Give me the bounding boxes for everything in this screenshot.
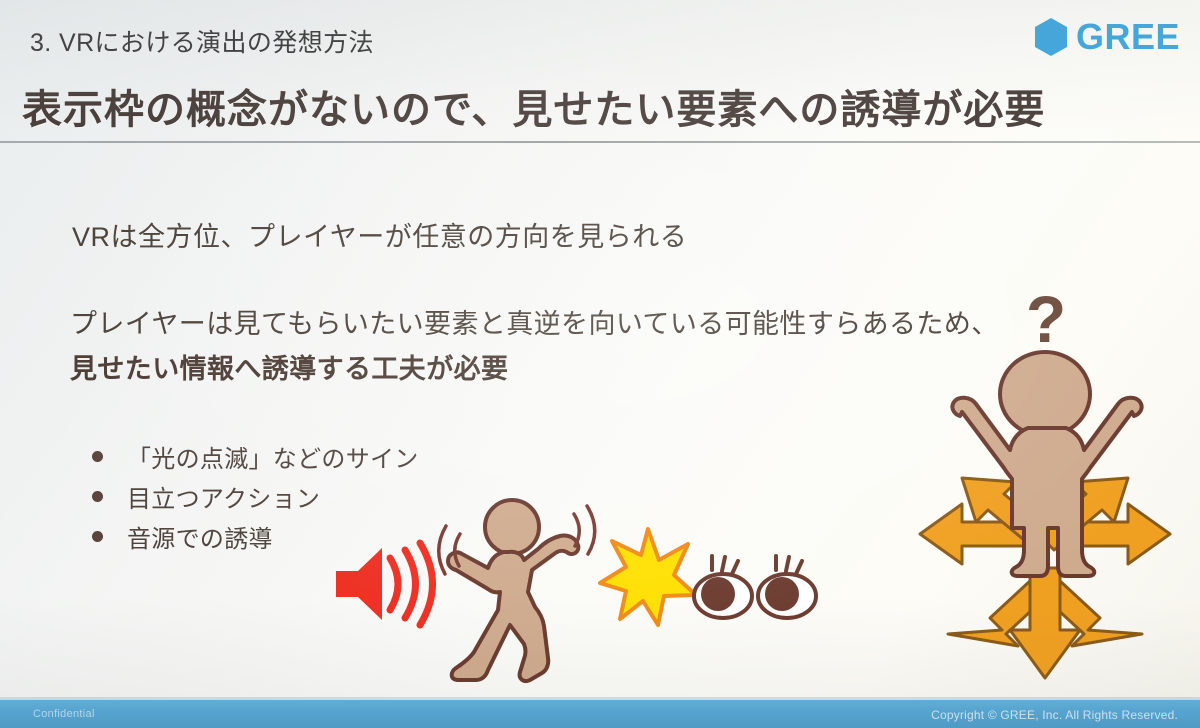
slide-kicker: 3. VRにおける演出の発想方法 [30, 23, 374, 59]
confidential-label: Confidential [33, 708, 95, 720]
list-item-label: 目立つアクション [127, 479, 320, 514]
star-burst-icon [598, 527, 698, 627]
eyes-icon [692, 552, 824, 624]
slide-footer: Confidential Copyright © GREE, Inc. All … [0, 700, 1200, 728]
bullet-dot-icon [92, 531, 103, 542]
person-with-arrows-icon: ? [900, 282, 1190, 682]
header-divider [0, 141, 1200, 143]
slide-title: 表示枠の概念がないので、見せたい要素への誘導が必要 [22, 77, 1045, 135]
body-paragraph-2: プレイヤーは見てもらいたい要素と真逆を向いている可能性すらあるため、 [70, 302, 999, 341]
question-mark-icon: ? [1026, 282, 1066, 356]
bullet-dot-icon [92, 491, 103, 502]
presentation-slide: 3. VRにおける演出の発想方法 表示枠の概念がないので、見せたい要素への誘導が… [0, 0, 1200, 728]
list-item: 「光の点滅」などのサイン [92, 436, 419, 476]
list-item-label: 音源での誘導 [127, 519, 273, 554]
list-item-label: 「光の点滅」などのサイン [127, 439, 419, 474]
gree-logo: GREE [1033, 17, 1180, 57]
copyright-label: Copyright © GREE, Inc. All Rights Reserv… [931, 708, 1178, 722]
hexagon-icon [1033, 17, 1069, 57]
running-person-icon [432, 492, 607, 687]
speaker-sound-icon [330, 538, 442, 630]
body-paragraph-3-emphasis: 見せたい情報へ誘導する工夫が必要 [70, 347, 508, 386]
gree-logo-text: GREE [1076, 19, 1180, 55]
bullet-dot-icon [92, 451, 103, 462]
body-paragraph-1: VRは全方位、プレイヤーが任意の方向を見られる [72, 215, 687, 254]
list-item: 目立つアクション [92, 476, 419, 516]
